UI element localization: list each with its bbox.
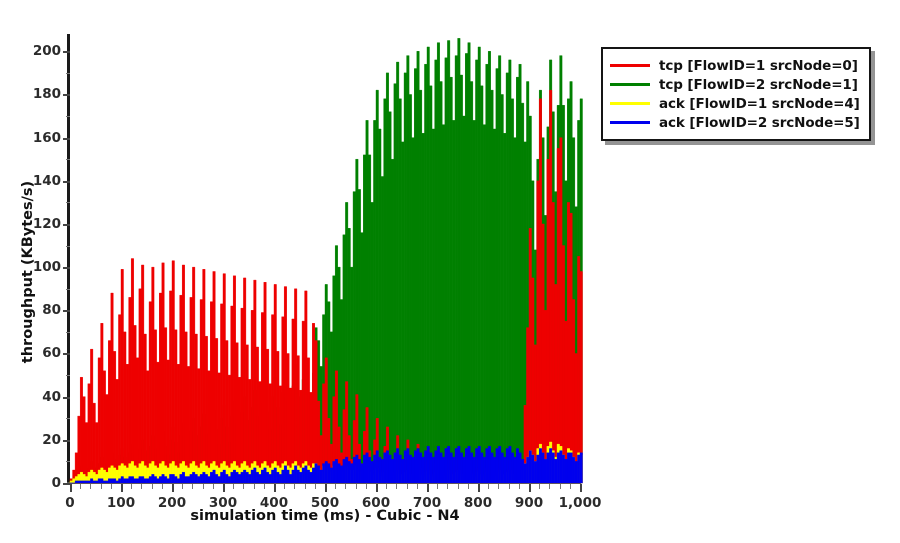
tick-mark bbox=[447, 484, 448, 489]
x-axis-title: simulation time (ms) - Cubic - N4 bbox=[70, 508, 580, 524]
legend-swatch-ack-flow2 bbox=[610, 121, 650, 124]
tick-mark bbox=[172, 484, 174, 492]
legend-item-ack-flow1[interactable]: ack [FlowID=1 srcNode=4] bbox=[610, 94, 860, 113]
legend-item-tcp-flow1[interactable]: tcp [FlowID=1 srcNode=0] bbox=[610, 56, 860, 75]
y-tick-label: 120 bbox=[33, 216, 61, 232]
tick-mark bbox=[468, 484, 469, 489]
y-axis-title-holder: throughput (KBytes/s) bbox=[22, 0, 23, 543]
legend-item-tcp-flow2[interactable]: tcp [FlowID=2 srcNode=1] bbox=[610, 75, 860, 94]
tick-mark bbox=[376, 484, 378, 492]
tick-mark bbox=[63, 181, 70, 183]
tick-mark bbox=[396, 484, 397, 489]
tick-mark bbox=[243, 484, 244, 489]
tick-mark bbox=[63, 440, 70, 442]
tick-mark bbox=[63, 267, 70, 269]
legend-swatch-tcp-flow2 bbox=[610, 83, 650, 86]
tick-mark bbox=[63, 94, 70, 96]
tick-mark bbox=[131, 484, 132, 489]
tick-mark bbox=[305, 484, 306, 489]
tick-mark bbox=[417, 484, 418, 489]
y-tick-label: 160 bbox=[33, 130, 61, 146]
tick-mark bbox=[274, 484, 276, 492]
tick-mark bbox=[458, 484, 459, 489]
tick-mark bbox=[345, 484, 346, 489]
tick-mark bbox=[294, 484, 295, 489]
tick-mark bbox=[111, 484, 112, 489]
legend-label-ack-flow1: ack [FlowID=1 srcNode=4] bbox=[659, 96, 860, 112]
tick-mark bbox=[192, 484, 193, 489]
tick-mark bbox=[356, 484, 357, 489]
tick-mark bbox=[366, 484, 367, 489]
tick-mark bbox=[90, 484, 91, 489]
tick-mark bbox=[63, 224, 70, 226]
plot-area bbox=[70, 34, 580, 483]
tick-mark bbox=[509, 484, 510, 489]
tick-mark bbox=[549, 484, 550, 489]
y-tick-label: 20 bbox=[42, 432, 61, 448]
tick-mark bbox=[80, 484, 81, 489]
tick-mark bbox=[539, 484, 540, 489]
tick-mark bbox=[223, 484, 225, 492]
tick-mark bbox=[162, 484, 163, 489]
tick-mark bbox=[407, 484, 408, 489]
y-tick-label: 60 bbox=[42, 345, 61, 361]
tick-mark bbox=[560, 484, 561, 489]
tick-mark bbox=[529, 484, 531, 492]
tick-mark bbox=[335, 484, 336, 489]
tick-mark bbox=[141, 484, 142, 489]
tick-mark bbox=[478, 484, 480, 492]
legend: tcp [FlowID=1 srcNode=0] tcp [FlowID=2 s… bbox=[601, 47, 871, 141]
tick-mark bbox=[121, 484, 123, 492]
legend-label-ack-flow2: ack [FlowID=2 srcNode=5] bbox=[659, 115, 860, 131]
chart-root: throughput (KBytes/s) 020406080100120140… bbox=[0, 0, 900, 543]
tick-mark bbox=[437, 484, 438, 489]
legend-label-tcp-flow2: tcp [FlowID=2 srcNode=1] bbox=[659, 77, 858, 93]
y-tick-label: 40 bbox=[42, 389, 61, 405]
y-tick-label: 0 bbox=[52, 475, 61, 491]
tick-mark bbox=[427, 484, 429, 492]
tick-mark bbox=[284, 484, 285, 489]
tick-mark bbox=[315, 484, 316, 489]
tick-mark bbox=[63, 353, 70, 355]
tick-mark bbox=[63, 310, 70, 312]
legend-swatch-tcp-flow1 bbox=[610, 64, 650, 67]
tick-mark bbox=[580, 484, 582, 492]
tick-mark bbox=[386, 484, 387, 489]
tick-mark bbox=[63, 483, 70, 485]
series-canvas bbox=[70, 34, 580, 483]
y-tick-label: 180 bbox=[33, 86, 61, 102]
y-tick-label: 200 bbox=[33, 43, 61, 59]
tick-mark bbox=[63, 397, 70, 399]
tick-mark bbox=[63, 138, 70, 140]
tick-mark bbox=[325, 484, 327, 492]
legend-swatch-ack-flow1 bbox=[610, 102, 650, 105]
tick-mark bbox=[101, 484, 102, 489]
tick-mark bbox=[264, 484, 265, 489]
legend-item-ack-flow2[interactable]: ack [FlowID=2 srcNode=5] bbox=[610, 113, 860, 132]
tick-mark bbox=[570, 484, 571, 489]
tick-mark bbox=[519, 484, 520, 489]
y-tick-label: 80 bbox=[42, 302, 61, 318]
tick-mark bbox=[488, 484, 489, 489]
y-tick-label: 140 bbox=[33, 173, 61, 189]
tick-mark bbox=[63, 51, 70, 53]
tick-mark bbox=[70, 484, 72, 492]
legend-label-tcp-flow1: tcp [FlowID=1 srcNode=0] bbox=[659, 58, 858, 74]
tick-mark bbox=[233, 484, 234, 489]
tick-mark bbox=[182, 484, 183, 489]
tick-mark bbox=[152, 484, 153, 489]
tick-mark bbox=[254, 484, 255, 489]
y-tick-label: 100 bbox=[33, 259, 61, 275]
tick-mark bbox=[203, 484, 204, 489]
tick-mark bbox=[498, 484, 499, 489]
tick-mark bbox=[213, 484, 214, 489]
